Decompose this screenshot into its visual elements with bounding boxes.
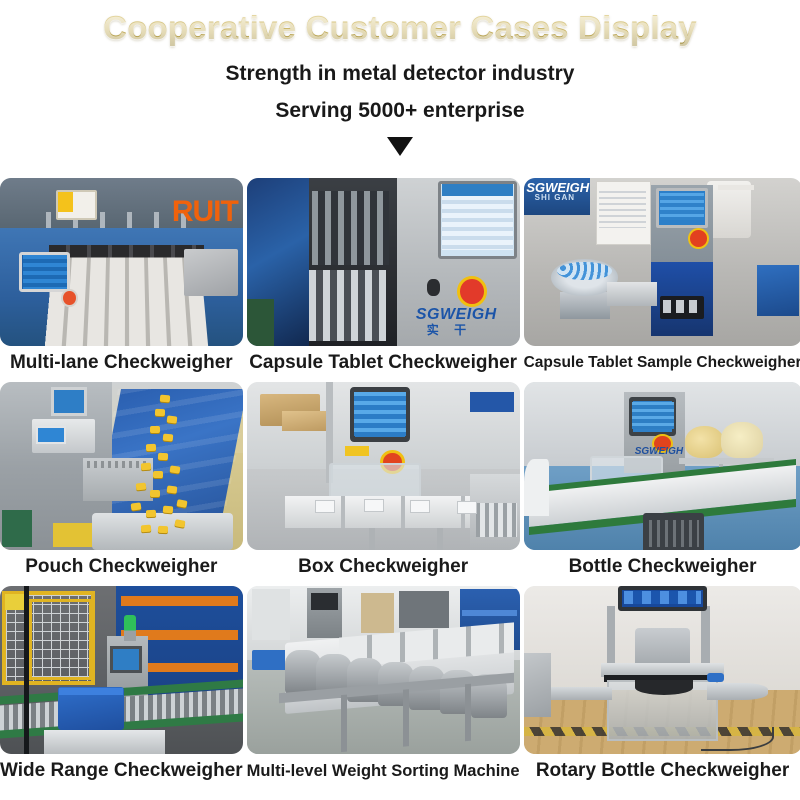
case-card-rotary-bottle[interactable]: Rotary Bottle Checkweigher: [524, 586, 800, 790]
upper-rails: [312, 191, 388, 265]
pouch-conveyor-line-photo[interactable]: [0, 382, 243, 550]
rotary-bottle-checkweigher-photo[interactable]: [524, 586, 800, 754]
multi-level-sorting-machine-photo[interactable]: [247, 586, 520, 754]
box-checkweigher-photo[interactable]: [247, 382, 520, 550]
spec-poster-lines: [599, 191, 646, 228]
blue-crate-rim: [59, 688, 122, 695]
case-caption: Capsule Tablet Checkweigher: [247, 346, 520, 382]
blue-fitting: [707, 673, 724, 681]
case-caption: Rotary Bottle Checkweigher: [524, 754, 800, 790]
dark-post: [24, 586, 29, 754]
yellow-pouch: [167, 415, 178, 423]
yellow-pouch: [136, 482, 147, 490]
case-card-bottle[interactable]: SGWEIGH Bottle Checkweigher: [524, 382, 800, 586]
capsule-tablet-sample-booth-photo[interactable]: SGWEIGH SHI GAN: [524, 178, 800, 346]
yellow-pouch: [150, 490, 160, 497]
machine-hood: [635, 628, 691, 665]
rack-beam-1: [121, 596, 237, 606]
yellow-pouch: [174, 519, 185, 528]
hmi-panel-rows: [442, 186, 513, 250]
keypad-keys: [663, 300, 702, 313]
yellow-pouch: [162, 506, 173, 514]
case-caption: Multi-lane Checkweigher: [0, 346, 243, 382]
case-card-pouch[interactable]: Pouch Checkweigher: [0, 382, 243, 586]
hmi-screen-content: [624, 591, 702, 604]
booth-table: [718, 185, 754, 190]
yellow-pouch: [131, 502, 142, 510]
capsule-tablet-machine-photo[interactable]: SGWEIGH 实 干: [247, 178, 520, 346]
background-bench: [399, 591, 448, 628]
case-caption: Wide Range Checkweigher: [0, 754, 243, 790]
yellow-pouches: [0, 382, 243, 550]
case-caption: Bottle Checkweigher: [524, 550, 800, 586]
case-card-box[interactable]: Box Checkweigher: [247, 382, 520, 586]
case-card-multi-level-sorting[interactable]: Multi-level Weight Sorting Machine: [247, 586, 520, 790]
page-title: Cooperative Customer Cases Display: [0, 6, 800, 50]
hmi-screen-content: [660, 193, 704, 220]
yellow-pouch: [155, 409, 165, 416]
case-card-multi-lane[interactable]: RUIT Multi-lane Checkweigher: [0, 178, 243, 382]
yellow-pouch: [145, 444, 155, 451]
sgweigh-banner-subtext: SHI GAN: [535, 193, 575, 202]
granule-bag-1: [685, 426, 724, 458]
reject-chute: [184, 249, 237, 296]
bowl-feeder-base: [560, 292, 610, 319]
yellow-pouch: [177, 499, 188, 508]
product-box: [364, 499, 384, 512]
selector-knob: [427, 279, 441, 296]
yellow-pouch: [169, 465, 180, 473]
ruit-logo: RUIT: [172, 195, 238, 229]
reject-bin-slots: [649, 520, 699, 547]
plant-foliage: [247, 299, 274, 346]
page-header: Cooperative Customer Cases Display Stren…: [0, 0, 800, 159]
case-card-wide-range[interactable]: Wide Range Checkweigher: [0, 586, 243, 790]
wide-range-warehouse-photo[interactable]: [0, 586, 243, 754]
yellow-pouch: [153, 471, 163, 478]
infeed-conveyor: [551, 687, 612, 700]
yellow-pouch: [158, 452, 168, 460]
background-screen: [311, 593, 338, 610]
outfeed-conveyor: [707, 683, 768, 700]
multi-lane-machine-photo[interactable]: RUIT: [0, 178, 243, 346]
hmi-screen-content: [632, 402, 674, 429]
product-box: [457, 501, 477, 514]
left-stainless-panel: [524, 653, 552, 717]
blue-tote: [757, 265, 799, 315]
subtitle-line-1: Strength in metal detector industry: [0, 58, 800, 89]
yellow-pouch: [145, 510, 155, 517]
arrow-wrap: [0, 133, 800, 159]
emergency-stop-button: [690, 230, 707, 247]
case-gallery-grid: RUIT Multi-lane Checkweigher SGWEIGH 实 干: [0, 178, 800, 790]
emergency-stop-button: [460, 279, 485, 304]
case-caption: Multi-level Weight Sorting Machine: [247, 754, 520, 790]
lower-rails: [309, 270, 385, 341]
bottle-checkweigher-photo[interactable]: SGWEIGH: [524, 382, 800, 550]
subtitle-line-2: Serving 5000+ enterprise: [0, 95, 800, 126]
weighing-plate: [44, 730, 165, 754]
yellow-pouch: [167, 486, 178, 494]
yellow-pouch: [158, 526, 168, 534]
triangle-down-icon: [387, 137, 413, 156]
hmi-screen-content: [23, 255, 67, 289]
background-equipment-1: [252, 589, 290, 639]
booth-chairs: [707, 181, 751, 238]
warning-triangle-icon: [58, 192, 73, 212]
operator-figure: [524, 459, 549, 516]
cardboard-stack: [361, 593, 394, 633]
customer-cases-page: Cooperative Customer Cases Display Stren…: [0, 0, 800, 800]
case-caption: Pouch Checkweigher: [0, 550, 243, 586]
case-caption: Capsule Tablet Sample Checkweigher: [524, 346, 800, 382]
granule-bag-2: [721, 422, 763, 457]
andon-tower-light: [124, 615, 136, 642]
yellow-pouch: [162, 434, 173, 442]
yellow-pouch: [141, 462, 151, 470]
product-box: [410, 500, 430, 513]
feed-conveyor: [607, 282, 657, 306]
yellow-pouch: [150, 426, 160, 433]
case-caption: Box Checkweigher: [247, 550, 520, 586]
yellow-pouch: [160, 395, 170, 403]
yellow-pouch: [141, 524, 151, 532]
blue-shelving-beam: [462, 610, 517, 617]
case-card-capsule-tablet[interactable]: SGWEIGH 实 干 Capsule Tablet Checkweigher: [247, 178, 520, 382]
sgweigh-logo-cn: 实 干: [427, 321, 472, 338]
emergency-stop-button: [61, 289, 78, 307]
case-card-capsule-tablet-sample[interactable]: SGWEIGH SHI GAN Capsule Tablet Sample Ch…: [524, 178, 800, 382]
product-box: [315, 500, 335, 513]
product-boxes: [247, 382, 520, 550]
hmi-panel-header: [442, 184, 513, 196]
hmi-screen: [110, 646, 142, 673]
safety-cage-frame: [29, 599, 92, 680]
